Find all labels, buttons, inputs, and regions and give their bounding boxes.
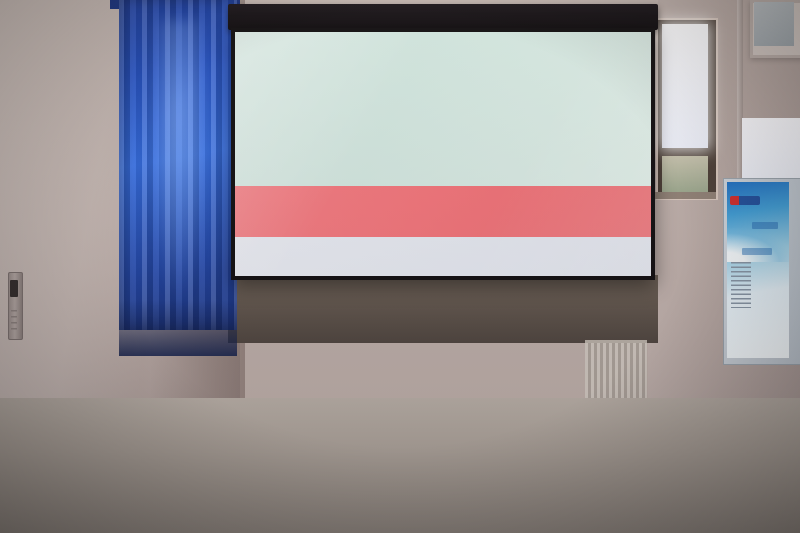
control-panel-display [10, 280, 18, 297]
slide-upper-panel [235, 32, 651, 186]
slide-title-band [235, 186, 651, 237]
slide-footer-panel [235, 237, 651, 276]
projection-screen-valance [228, 4, 658, 30]
curtain-shadow [119, 300, 237, 356]
banner-wave-graphic [727, 228, 789, 262]
banner-photo-collage [753, 258, 787, 312]
picture-image [754, 2, 794, 46]
banner-heading-2 [742, 248, 772, 255]
curtain-highlight [150, 20, 208, 300]
banner-logo [730, 196, 760, 205]
banner-photo-strip [729, 318, 787, 340]
banner-body-text [731, 262, 751, 308]
side-window-glass-upper [662, 24, 708, 148]
floor [0, 398, 800, 533]
banner-heading-1 [752, 222, 778, 229]
side-window-sill [654, 192, 716, 199]
control-panel-buttons[interactable] [11, 310, 17, 332]
window-band [228, 275, 658, 343]
presentation-slide [235, 32, 651, 276]
radiator [585, 340, 647, 403]
meeting-room-photo [0, 0, 800, 533]
side-window-glass-lower [662, 156, 708, 192]
